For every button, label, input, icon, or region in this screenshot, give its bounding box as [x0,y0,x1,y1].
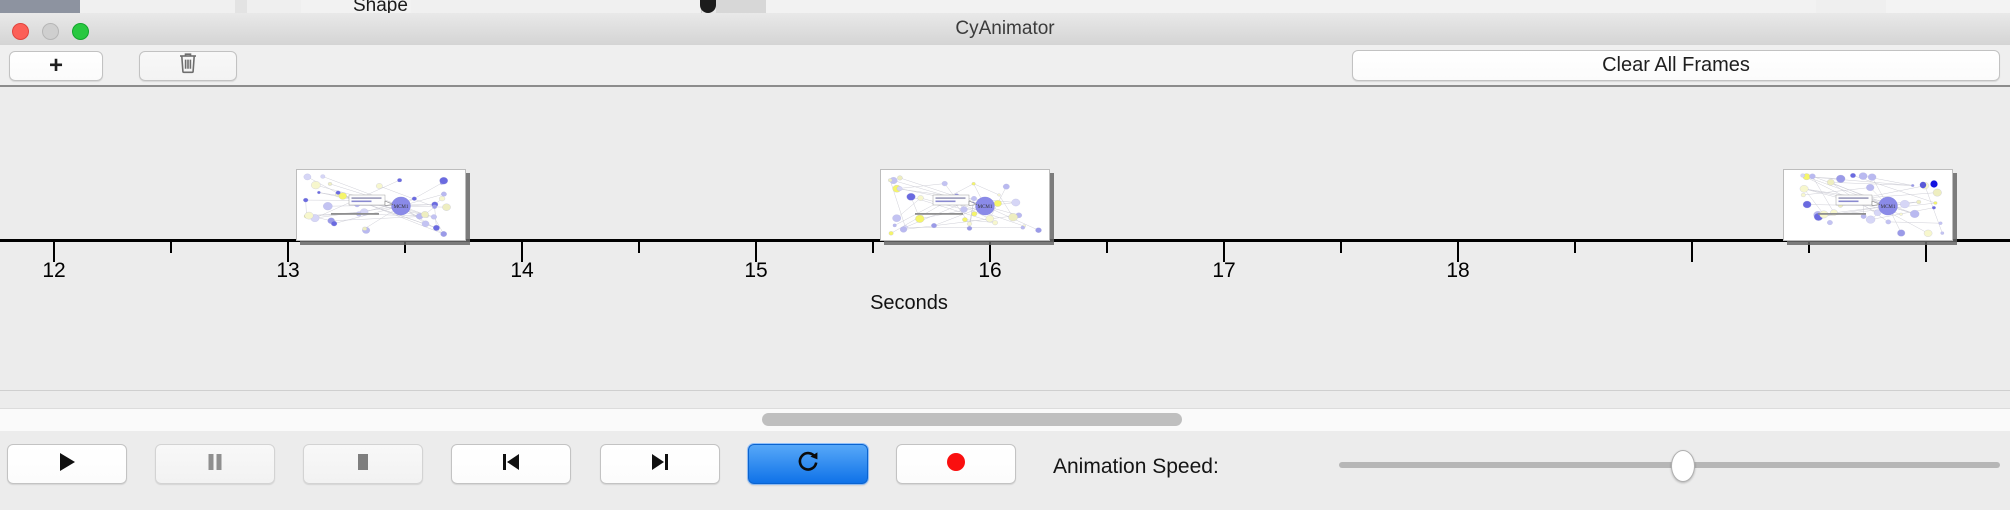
stop-button[interactable] [303,444,423,484]
pause-icon [204,450,226,479]
delete-frame-button[interactable] [139,51,237,81]
loop-icon [795,449,821,480]
timeline-scrollbar[interactable] [0,408,2010,432]
trash-icon [177,51,199,81]
timeline-tick-label: 14 [510,259,533,283]
title-bar: CyAnimator [0,13,2010,46]
svg-text:MCM1: MCM1 [1881,205,1896,210]
timeline-tick [1574,242,1576,253]
pause-button[interactable] [155,444,275,484]
svg-text:MCM1: MCM1 [394,205,409,210]
timeline-tick [1925,242,1927,262]
timeline-frame-thumbnail[interactable]: MCM1 [296,169,466,241]
last-frame-button[interactable] [600,444,720,484]
animation-speed-slider[interactable] [1339,462,2000,468]
axis-title: Seconds [0,292,1818,315]
timeline-tick-label: 18 [1446,259,1469,283]
background-window-strip: Shape [0,0,2010,14]
background-segment-9 [1886,0,2010,13]
timeline-tick [638,242,640,253]
timeline-tick [1106,242,1108,253]
background-segment-3 [247,0,302,13]
animation-speed-label: Animation Speed: [1053,455,1219,479]
clear-all-frames-label: Clear All Frames [1602,54,1750,77]
skip-back-icon [499,450,523,479]
timeline-panel[interactable]: 12131415161718 MCM1MCM1MCM1 Seconds [0,87,2010,391]
timeline-scrollbar-thumb[interactable] [762,413,1182,426]
background-segment-1 [80,0,236,13]
clear-all-frames-button[interactable]: Clear All Frames [1352,50,2000,81]
timeline-frame-thumbnail[interactable]: MCM1 [880,169,1050,241]
loop-button[interactable] [748,444,868,484]
first-frame-button[interactable] [451,444,571,484]
background-active-tab [0,0,80,13]
timeline-tick [170,242,172,253]
record-button[interactable] [896,444,1016,484]
cyanimator-window: Shape CyAnimator + Clear All Frames [0,0,2010,510]
add-frame-button[interactable]: + [9,51,103,81]
plus-icon: + [49,54,63,78]
timeline-tick [1340,242,1342,253]
svg-text:MCM1: MCM1 [978,205,993,210]
timeline-tick-label: 17 [1212,259,1235,283]
timeline-tick [404,242,406,253]
record-icon [944,450,968,479]
timeline-tick [1808,242,1810,253]
timeline-tick-label: 13 [276,259,299,283]
play-icon [56,450,78,479]
background-segment-5 [411,0,702,13]
background-segment-7 [766,0,1817,13]
background-shape-label: Shape [353,0,408,14]
stop-icon [352,450,374,479]
toolbar: + Clear All Frames [0,45,2010,87]
timeline-tick-label: 16 [978,259,1001,283]
skip-forward-icon [648,450,672,479]
timeline-frame-thumbnail[interactable]: MCM1 [1783,169,1953,241]
background-segment-6 [716,0,767,13]
window-title: CyAnimator [0,13,2010,45]
timeline-tick [1691,242,1693,262]
background-marker [700,0,716,13]
animation-speed-slider-thumb[interactable] [1671,450,1695,482]
timeline-tick [872,242,874,253]
timeline-tick-label: 15 [744,259,767,283]
background-segment-8 [1816,0,1887,13]
timeline-tick-label: 12 [42,259,65,283]
transport-bar: Animation Speed: [0,431,2010,510]
play-button[interactable] [7,444,127,484]
